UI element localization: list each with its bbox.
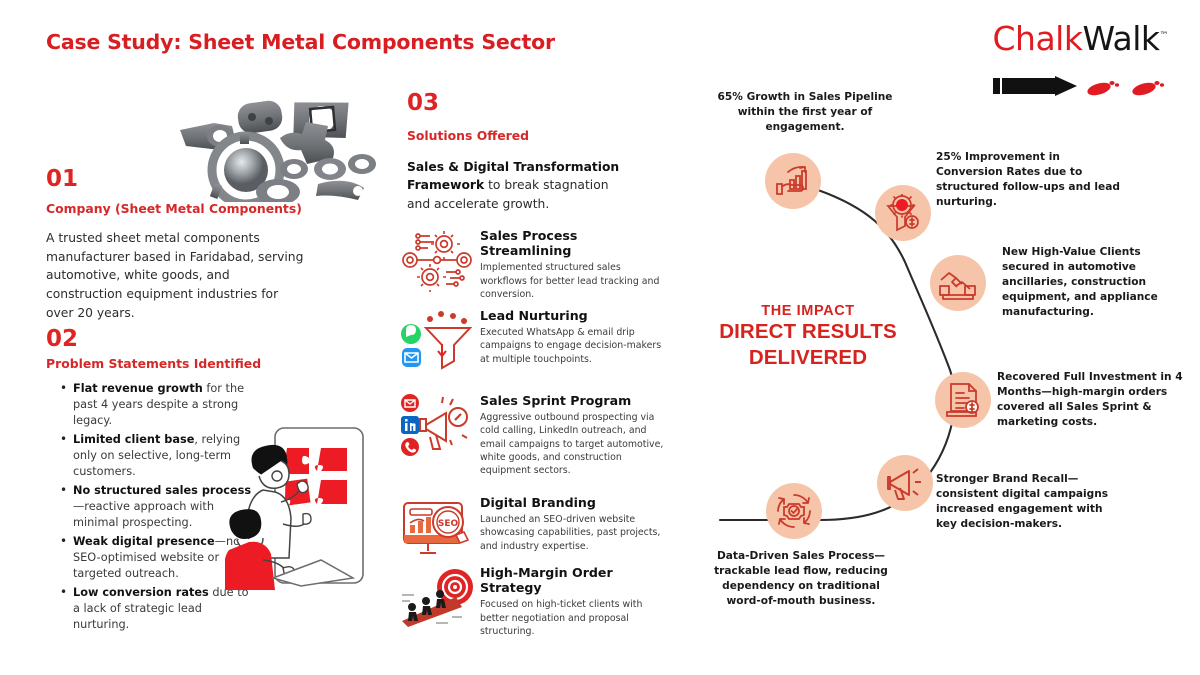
megaphone-outreach-icon [400, 393, 474, 457]
infographic-page: Case Study: Sheet Metal Components Secto… [0, 0, 1200, 675]
impact-result-caption: 65% Growth in Sales Pipeline within the … [712, 90, 898, 135]
hand-growth-chart-icon [765, 153, 821, 209]
solution-text: Sales Process StreamliningImplemented st… [480, 228, 665, 301]
logo-wordmark: ChalkWalk™ [968, 22, 1168, 55]
problem-statement-label: Low conversion rates [73, 586, 209, 599]
handshake-icon [930, 255, 986, 311]
impact-result-caption: Recovered Full Investment in 4 Months—hi… [997, 370, 1183, 430]
problem-statement-item: Limited client base, relying only on sel… [60, 432, 252, 480]
section-02-heading: Problem Statements Identified [46, 357, 261, 372]
funnel-whatsapp-email-icon [400, 308, 474, 372]
problem-statement-label: Weak digital presence [73, 535, 215, 548]
impact-heading-line1: THE IMPACT [702, 303, 914, 319]
solution-text: Lead NurturingExecuted WhatsApp & email … [480, 308, 665, 366]
problem-statements-list: Flat revenue growth for the past 4 years… [60, 381, 252, 636]
solution-title: Sales Sprint Program [480, 393, 665, 408]
gears-network-icon [400, 228, 474, 292]
section-02-number: 02 [46, 328, 78, 351]
impact-result-caption: 25% Improvement in Conversion Rates due … [936, 150, 1122, 210]
team-climbing-target-icon [400, 565, 474, 629]
impact-heading-line2: DIRECT RESULTS DELIVERED [702, 319, 914, 370]
logo-walk-text: Walk [1082, 19, 1159, 58]
section-03-number: 03 [407, 92, 439, 115]
impact-result-caption: Stronger Brand Recall—consistent digital… [936, 472, 1114, 532]
seo-monitor-icon: SEO [400, 495, 474, 559]
solution-description: Aggressive outbound prospecting via cold… [480, 411, 665, 478]
page-title: Case Study: Sheet Metal Components Secto… [46, 30, 555, 54]
people-assembling-puzzle-illustration [225, 422, 370, 600]
solution-text: Digital BrandingLaunched an SEO-driven w… [480, 495, 665, 553]
gear-check-cycle-icon [766, 483, 822, 539]
section-01-body: A trusted sheet metal components manufac… [46, 229, 308, 322]
impact-result-caption: New High-Value Clients secured in automo… [1002, 245, 1180, 320]
solution-title: Sales Process Streamlining [480, 228, 665, 258]
invoice-document-icon [935, 372, 991, 428]
problem-statement-detail: —reactive approach with minimal prospect… [73, 500, 214, 529]
section-01-number: 01 [46, 168, 78, 191]
section-03-intro: Sales & Digital Transformation Framework… [407, 158, 623, 213]
solution-description: Implemented structured sales workflows f… [480, 261, 665, 301]
solution-description: Focused on high-ticket clients with bett… [480, 598, 665, 638]
solution-description: Executed WhatsApp & email drip campaigns… [480, 326, 665, 366]
impact-result-caption: Data-Driven Sales Process—trackable lead… [706, 549, 896, 609]
solution-text: High-Margin Order StrategyFocused on hig… [480, 565, 665, 638]
solution-title: Lead Nurturing [480, 308, 665, 323]
impact-heading: THE IMPACT DIRECT RESULTS DELIVERED [702, 303, 914, 370]
problem-statement-item: Weak digital presence—no SEO-optimised w… [60, 534, 252, 582]
svg-text:SEO: SEO [438, 519, 459, 529]
section-03-heading: Solutions Offered [407, 129, 529, 144]
logo-tm-symbol: ™ [1160, 31, 1169, 41]
solution-description: Launched an SEO-driven website showcasin… [480, 513, 665, 553]
section-01-heading: Company (Sheet Metal Components) [46, 202, 302, 217]
funnel-target-dollar-icon [875, 185, 931, 241]
solution-text: Sales Sprint ProgramAggressive outbound … [480, 393, 665, 478]
sheet-metal-components-photo [172, 92, 380, 202]
problem-statement-label: Limited client base [73, 433, 194, 446]
solution-title: Digital Branding [480, 495, 665, 510]
problem-statement-item: Flat revenue growth for the past 4 years… [60, 381, 252, 429]
problem-statement-label: Flat revenue growth [73, 382, 203, 395]
logo-chalk-text: Chalk [993, 19, 1083, 58]
megaphone-icon [877, 455, 933, 511]
problem-statement-item: No structured sales process—reactive app… [60, 483, 252, 531]
solution-title: High-Margin Order Strategy [480, 565, 665, 595]
problem-statement-item: Low conversion rates due to a lack of st… [60, 585, 252, 633]
